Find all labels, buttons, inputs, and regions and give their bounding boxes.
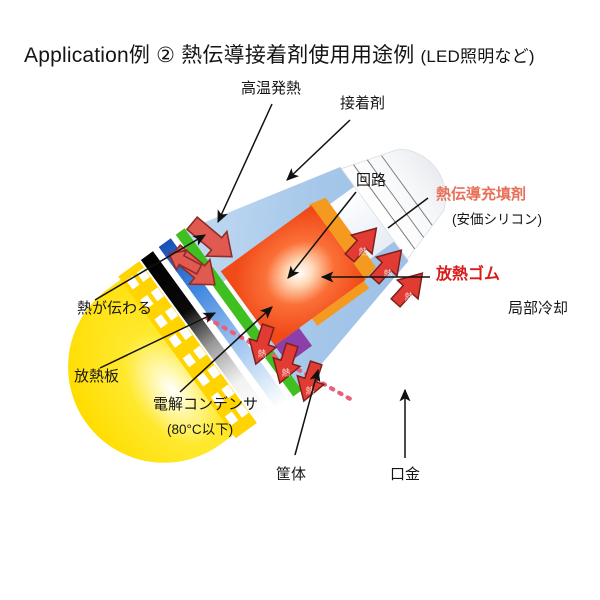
svg-text:熱: 熱 (358, 246, 367, 257)
label-base: 口金 (390, 466, 420, 483)
label-local-cooling: 局部冷却 (508, 300, 568, 317)
label-adhesive: 接着剤 (340, 95, 385, 112)
label-capacitor: 電解コンデンサ (153, 396, 258, 413)
label-housing: 筐体 (276, 466, 306, 483)
label-high-temp: 高温発熱 (241, 80, 301, 97)
label-thermal-filler-sub: (安価シリコン) (452, 212, 542, 228)
label-thermal-filler: 熱伝導充填剤 (436, 186, 526, 203)
label-circuit: 回路 (356, 172, 386, 189)
svg-text:熱: 熱 (257, 348, 266, 359)
diagram-canvas: Application例 ② 熱伝導接着剤使用用途例 (LED照明など) (0, 0, 600, 600)
svg-text:熱: 熱 (404, 291, 413, 302)
label-capacitor-sub: (80°C以下) (167, 422, 233, 438)
label-heat-rubber: 放熱ゴム (436, 266, 500, 284)
svg-text:熱: 熱 (281, 367, 290, 378)
label-heat-sink: 放熱板 (74, 368, 119, 385)
label-heat-transfer: 熱が伝わる (77, 300, 152, 317)
